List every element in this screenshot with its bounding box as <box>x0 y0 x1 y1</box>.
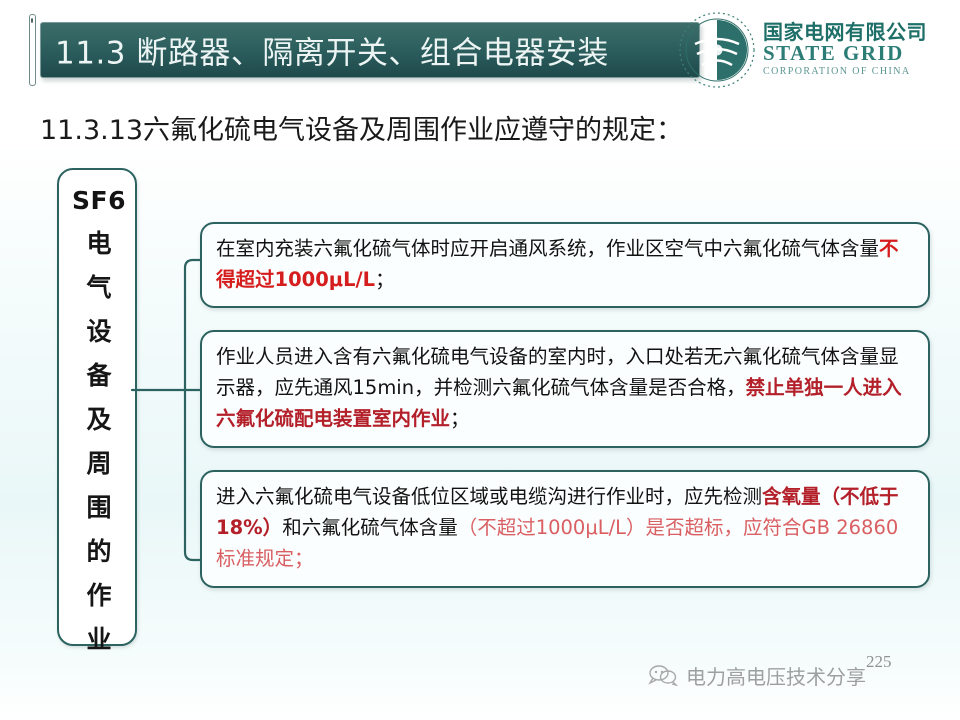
logo-en-name: STATE GRID <box>763 43 953 64</box>
watermark-text: 电力高电压技术分享 <box>686 661 866 690</box>
sf6-char: 周 <box>59 442 139 486</box>
sf6-vertical-label: 电 气 设 备 及 周 围 的 作 业 <box>59 222 139 662</box>
slide-canvas: 11.3 断路器、隔离开关、组合电器安装 国家电网有限公司 STATE GRID… <box>0 0 960 720</box>
text-segment: 和六氟化硫气体含量 <box>282 516 458 539</box>
page-title: 11.3.13六氟化硫电气设备及周围作业应遵守的规定： <box>40 108 920 147</box>
sf6-char: 围 <box>59 486 139 530</box>
text-segment: ； <box>375 268 395 291</box>
text-segment: 在室内充装六氟化硫气体时应开启通风系统，作业区空气中六氟化硫气体含量 <box>216 237 879 260</box>
header-title-bar: 11.3 断路器、隔离开关、组合电器安装 <box>40 22 700 78</box>
header-left-marker <box>29 14 36 86</box>
state-grid-wordmark: 国家电网有限公司 STATE GRID CORPORATION OF CHINA <box>763 22 953 77</box>
sf6-category-box: SF6 电 气 设 备 及 周 围 的 作 业 <box>57 168 137 646</box>
page-number: 225 <box>866 652 892 672</box>
rule-box-2-text: 作业人员进入含有六氟化硫电气设备的室内时，入口处若无六氟化硫气体含量显示器，应先… <box>216 341 916 434</box>
sf6-char: 备 <box>59 354 139 398</box>
rule-box-1: 在室内充装六氟化硫气体时应开启通风系统，作业区空气中六氟化硫气体含量不得超过10… <box>200 222 930 308</box>
sf6-char: 及 <box>59 398 139 442</box>
text-segment: ； <box>450 407 470 430</box>
sf6-char: 气 <box>59 266 139 310</box>
sf6-char: 作 <box>59 574 139 618</box>
rule-box-1-text: 在室内充装六氟化硫气体时应开启通风系统，作业区空气中六氟化硫气体含量不得超过10… <box>216 233 916 295</box>
logo-cn-name: 国家电网有限公司 <box>763 22 953 42</box>
rule-box-3-text: 进入六氟化硫电气设备低位区域或电缆沟进行作业时，应先检测含氧量（不低于18%）和… <box>216 481 916 574</box>
state-grid-emblem-icon <box>675 8 759 92</box>
logo-en-subtitle: CORPORATION OF CHINA <box>763 67 953 77</box>
sf6-char: 的 <box>59 530 139 574</box>
footer-watermark: 电力高电压技术分享 <box>648 655 948 695</box>
sf6-label: SF6 <box>59 186 139 215</box>
text-segment: 进入六氟化硫电气设备低位区域或电缆沟进行作业时，应先检测 <box>216 485 762 508</box>
sf6-char: 电 <box>59 222 139 266</box>
rule-box-3: 进入六氟化硫电气设备低位区域或电缆沟进行作业时，应先检测含氧量（不低于18%）和… <box>200 470 930 588</box>
header-title-text: 11.3 断路器、隔离开关、组合电器安装 <box>55 28 609 73</box>
sf6-char: 业 <box>59 618 139 662</box>
sf6-char: 设 <box>59 310 139 354</box>
slide-header: 11.3 断路器、隔离开关、组合电器安装 国家电网有限公司 STATE GRID… <box>0 0 960 104</box>
chat-bubble-icon <box>648 664 678 686</box>
rule-box-2: 作业人员进入含有六氟化硫电气设备的室内时，入口处若无六氟化硫气体含量显示器，应先… <box>200 330 930 448</box>
